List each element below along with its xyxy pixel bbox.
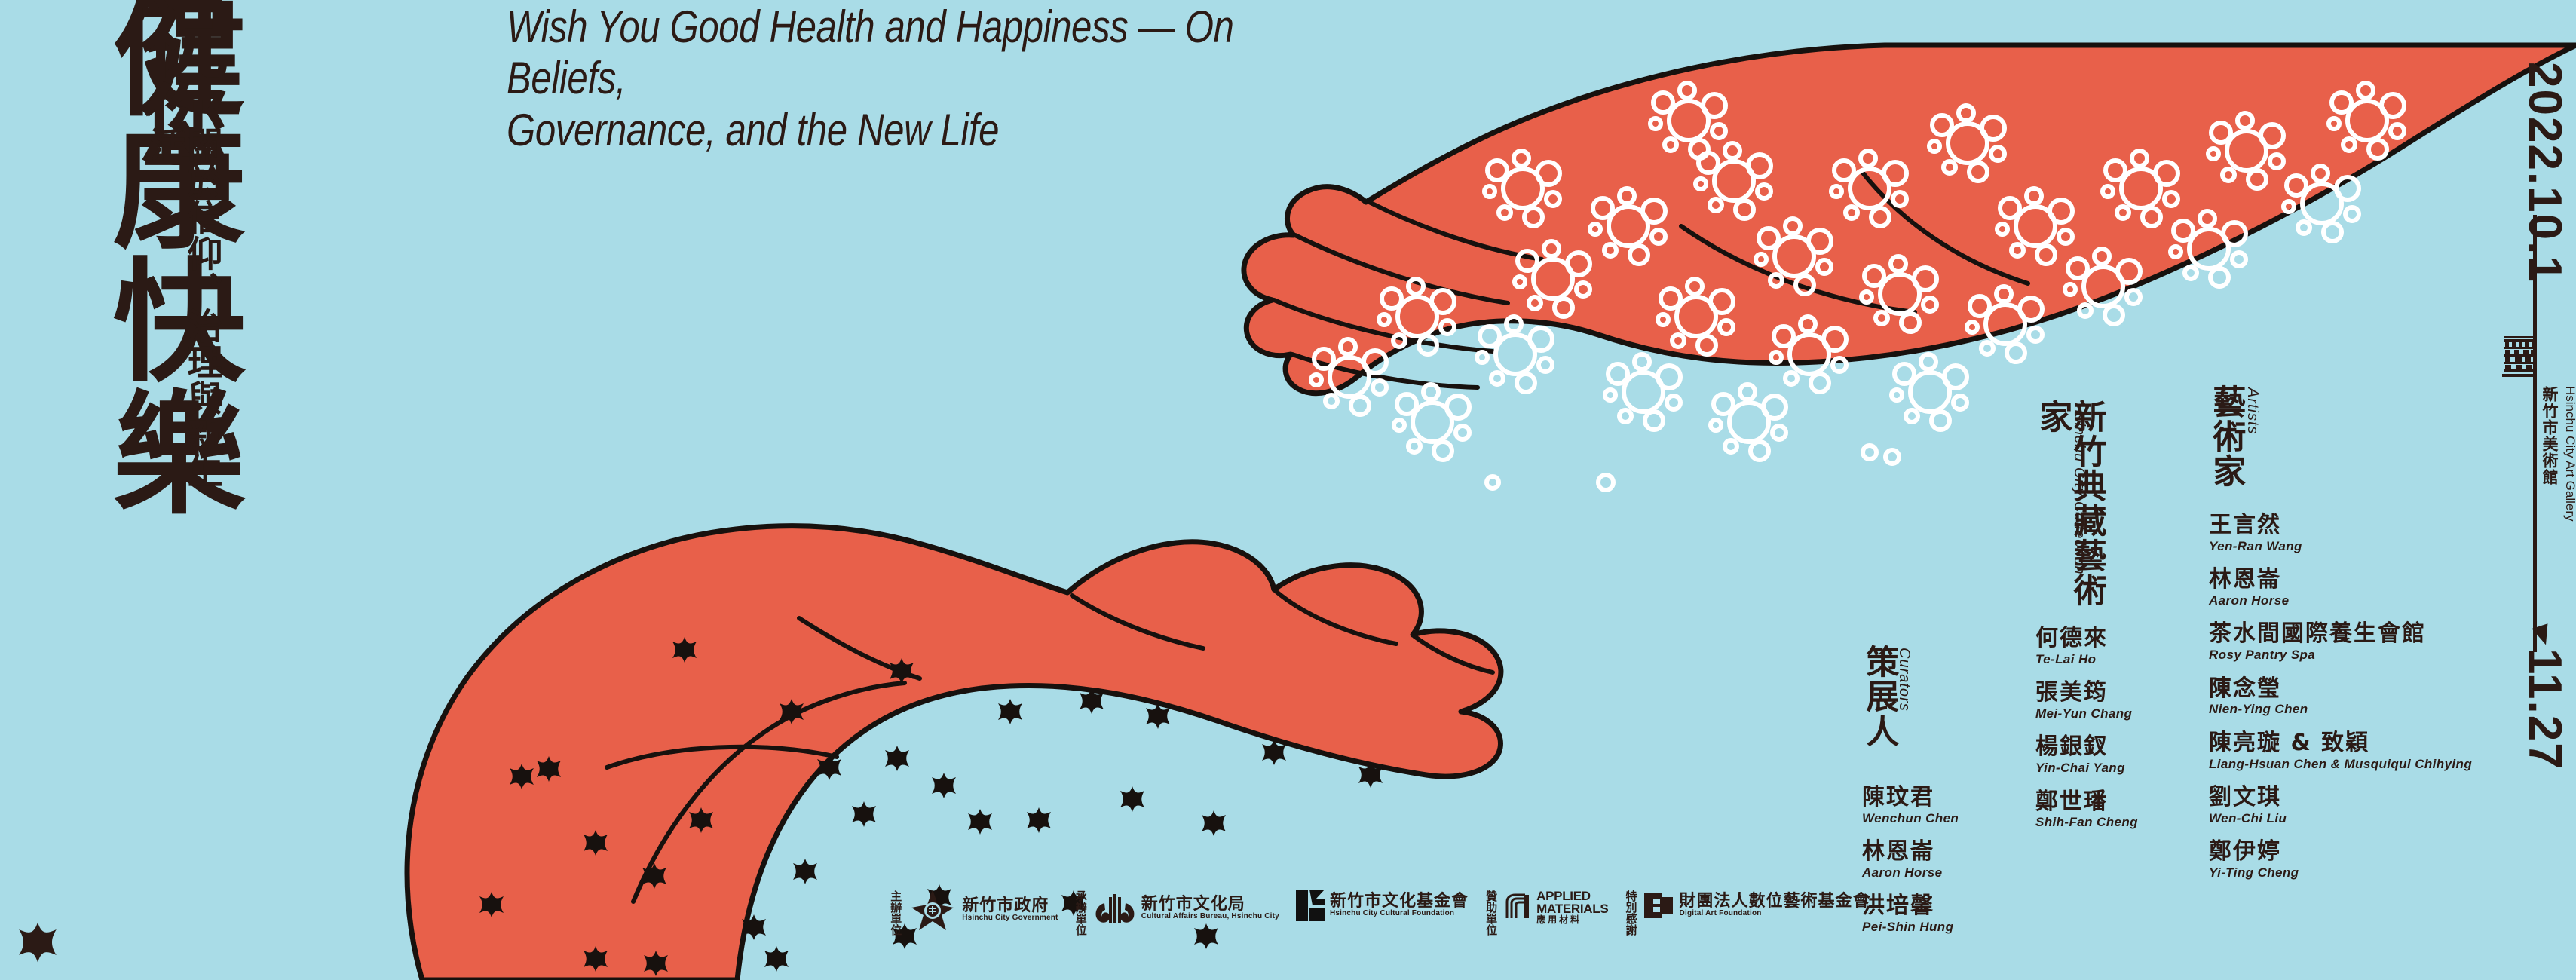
artists-column: 藝術家 Artists 王言然 Yen-Ran Wang 林恩崙 Aaron H… [2209, 384, 2541, 498]
digital-art-foundation-icon [1644, 890, 1674, 921]
artists-heading: 藝術家 Artists [2209, 384, 2541, 498]
sponsor-applied-materials: 贊助單位 APPLIED MATERIALS 應用材料 [1485, 890, 1608, 936]
list-item: 何德來 Te-Lai Ho [2035, 626, 2138, 667]
exhibition-start-date: 2022.10.1 [2518, 62, 2571, 283]
collection-heading-english: Hsinchu City Collection [2070, 403, 2087, 575]
artists-heading-english: Artists [2244, 387, 2261, 435]
list-item: 楊銀釵 Yin-Chai Yang [2035, 734, 2138, 776]
sponsor-role-label: 主辦單位 [890, 890, 902, 936]
artists-list: 王言然 Yen-Ran Wang 林恩崙 Aaron Horse 茶水間國際養生… [2209, 513, 2472, 893]
person-name-english: Wen-Chi Liu [2209, 811, 2472, 826]
exhibition-end-date: 11.27 [2518, 648, 2571, 770]
hsinchu-cultural-foundation-icon [1296, 890, 1325, 921]
sponsor-name-chinese: 應用材料 [1536, 915, 1608, 924]
sponsor-role-label: 承辦單位 [1075, 890, 1087, 936]
sponsor-name-english-bottom: MATERIALS [1536, 902, 1608, 915]
curators-column: 策展人 Curators 陳玟君 Wenchun Chen 林恩崙 Aaron … [1862, 645, 2013, 783]
sponsor-name-english: Cultural Affairs Bureau, Hsinchu City [1141, 913, 1279, 921]
person-name-english: Aaron Horse [1862, 865, 1959, 880]
person-name-chinese: 鄭世璠 [2035, 789, 2138, 816]
list-item: 鄭世璠 Shih-Fan Cheng [2035, 789, 2138, 831]
title-english-line2: Governance, and the New Life [507, 105, 1236, 156]
list-item: 王言然 Yen-Ran Wang [2209, 513, 2472, 554]
person-name-chinese: 茶水間國際養生會館 [2209, 621, 2472, 648]
sponsor-name-english: Hsinchu City Government [962, 914, 1058, 923]
title-english-line1: Wish You Good Health and Happiness — On … [507, 2, 1236, 105]
list-item: 陳玟君 Wenchun Chen [1862, 785, 1959, 826]
list-item: 林恩崙 Aaron Horse [2209, 567, 2472, 608]
person-name-chinese: 陳亮璇 & 致穎 [2209, 730, 2472, 757]
decorative-flower-mark [19, 923, 57, 963]
person-name-english: Rosy Pantry Spa [2209, 648, 2472, 663]
list-item: 林恩崙 Aaron Horse [1862, 839, 1959, 880]
exhibition-poster: 健康快樂 祝您 關於信仰、治理與新生活 Wish You Good Health… [0, 0, 2576, 980]
person-name-chinese: 王言然 [2209, 513, 2472, 539]
person-name-chinese: 鄭伊婷 [2209, 839, 2472, 865]
sponsor-role-label: 特別感謝 [1625, 890, 1637, 936]
person-name-chinese: 何德來 [2035, 626, 2138, 652]
person-name-english: Mei-Yun Chang [2035, 706, 2138, 721]
list-item: 陳念瑩 Nien-Ying Chen [2209, 676, 2472, 718]
person-name-chinese: 劉文琪 [2209, 785, 2472, 811]
person-name-chinese: 陳玟君 [1862, 785, 1959, 811]
sponsor-special-thanks: 特別感謝 財團法人數位藝術基金會 Digital Art Foundation [1625, 890, 1870, 936]
person-name-chinese: 張美筠 [2035, 680, 2138, 706]
sponsor-name-chinese: 新竹市政府 [962, 897, 1058, 914]
sponsor-name-chinese: 新竹市文化基金會 [1330, 893, 1469, 910]
sponsor-name-chinese: 新竹市文化局 [1141, 896, 1279, 913]
curators-heading-english: Curators [1895, 648, 1913, 712]
artists-heading-chinese: 藝術家 [2209, 384, 2243, 488]
person-name-english: Yen-Ran Wang [2209, 539, 2472, 554]
museum-building-icon [2502, 332, 2537, 380]
hsinchu-city-government-emblem-icon [908, 890, 957, 930]
sponsor-executor: 承辦單位 新竹市文化局 Cultural Affairs Bureau, Hsi… [1075, 890, 1279, 936]
sponsor-name-chinese: 財團法人數位藝術基金會 [1680, 893, 1870, 910]
list-item: 陳亮璇 & 致穎 Liang-Hsuan Chen & Musquiqui Ch… [2209, 730, 2472, 772]
sponsor-role-label: 贊助單位 [1485, 890, 1497, 936]
venue-name-english: Hsinchu City Art Gallery [2562, 386, 2576, 522]
list-item: 劉文琪 Wen-Chi Liu [2209, 785, 2472, 826]
sponsor-name-english: Hsinchu City Cultural Foundation [1330, 910, 1469, 918]
person-name-english: Wenchun Chen [1862, 811, 1959, 826]
curators-heading: 策展人 Curators [1862, 645, 2013, 783]
applied-materials-icon [1504, 893, 1531, 921]
person-name-chinese: 林恩崙 [1862, 839, 1959, 865]
person-name-english: Te-Lai Ho [2035, 652, 2138, 667]
page-title-english: Wish You Good Health and Happiness — On … [507, 2, 1236, 156]
list-item: 茶水間國際養生會館 Rosy Pantry Spa [2209, 621, 2472, 663]
person-name-chinese: 林恩崙 [2209, 567, 2472, 593]
person-name-english: Aaron Horse [2209, 593, 2472, 608]
person-name-chinese: 陳念瑩 [2209, 676, 2472, 703]
collection-heading: 新竹典藏藝術家 Hsinchu City Collection [2035, 400, 2194, 618]
person-name-english: Yin-Chai Yang [2035, 761, 2138, 776]
list-item: 張美筠 Mei-Yun Chang [2035, 680, 2138, 721]
sponsor-organizer: 主辦單位 新竹市政府 Hsinchu City Government [890, 890, 1058, 936]
curators-heading-chinese: 策展人 [1862, 645, 1896, 749]
sponsor-name-english-top: APPLIED [1536, 890, 1608, 902]
collection-artists-list: 何德來 Te-Lai Ho 張美筠 Mei-Yun Chang 楊銀釵 Yin-… [2035, 626, 2138, 844]
collection-artists-column: 新竹典藏藝術家 Hsinchu City Collection 何德來 Te-L… [2035, 400, 2194, 618]
subtitle-chinese: 關於信仰、治理與新生活 [145, 127, 220, 488]
venue-name-chinese: 新竹市美術館 [2538, 386, 2561, 485]
person-name-english: Nien-Ying Chen [2209, 702, 2472, 717]
person-name-english: Liang-Hsuan Chen & Musquiqui Chihying [2209, 757, 2472, 772]
sponsor-bar: 主辦單位 新竹市政府 Hsinchu City Government [890, 890, 1887, 972]
list-item: 鄭伊婷 Yi-Ting Cheng [2209, 839, 2472, 880]
sponsor-name-english: Digital Art Foundation [1680, 910, 1870, 918]
person-name-chinese: 楊銀釵 [2035, 734, 2138, 761]
cultural-affairs-bureau-icon [1094, 890, 1136, 927]
sponsor-foundation: 新竹市文化基金會 Hsinchu City Cultural Foundatio… [1296, 890, 1469, 921]
person-name-english: Shih-Fan Cheng [2035, 815, 2138, 830]
person-name-english: Yi-Ting Cheng [2209, 865, 2472, 880]
